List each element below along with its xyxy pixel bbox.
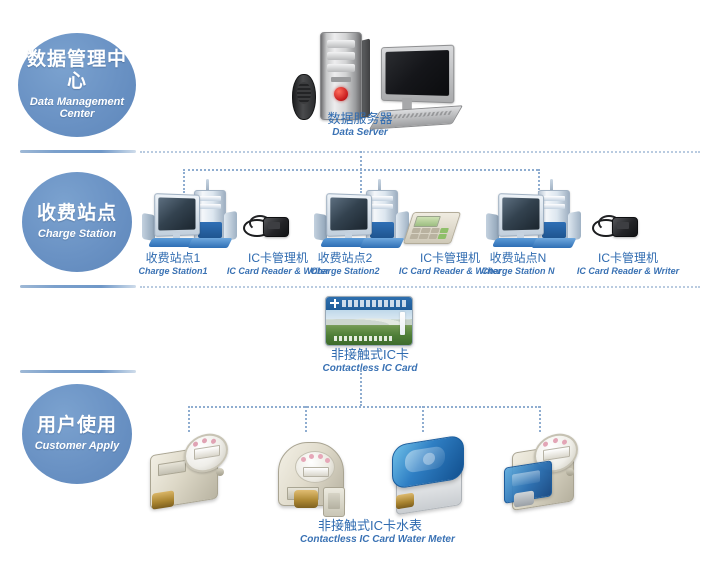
row-divider-2-dotted <box>140 286 700 288</box>
speaker-left-icon <box>142 213 155 241</box>
ic-card-reader-1 <box>243 213 289 239</box>
caption-en: Contactless IC Card Water Meter <box>300 534 440 546</box>
caption-data-server: 数据服务器 Data Server <box>300 112 420 138</box>
caption-cn: 非接触式IC卡 <box>310 348 430 363</box>
meter-card-slot <box>323 487 345 517</box>
monitor-icon <box>326 193 372 237</box>
reader-keypad <box>409 228 449 239</box>
meter-dial-face <box>295 451 335 483</box>
row-divider-2-solid <box>20 285 136 288</box>
stage-customer-apply: 用户使用 Customer Apply <box>22 384 132 484</box>
meter-pipe-fitting <box>396 493 414 510</box>
stage-label-en: Data Management Center <box>22 96 132 121</box>
ic-card-reader-n <box>592 213 638 239</box>
stage-label-cn: 用户使用 <box>37 415 117 437</box>
caption-charge-station-n: 收费站点N Charge Station N <box>462 252 574 276</box>
keyboard-icon <box>360 238 405 248</box>
card-logo-icon <box>330 299 339 308</box>
water-meter-3 <box>388 428 472 512</box>
meter-pipe-fitting <box>152 490 174 509</box>
connector-meter-bus <box>188 406 540 408</box>
stage-charge-station: 收费站点 Charge Station <box>22 172 132 272</box>
stage-data-management-center: 数据管理中心 Data Management Center <box>18 33 136 137</box>
speaker-right-icon <box>568 211 581 241</box>
reader-lcd-screen <box>413 216 441 227</box>
speaker-left-icon <box>486 213 499 241</box>
card-header-text <box>342 300 408 307</box>
caption-en: IC Card Reader & Writer <box>562 266 694 276</box>
row-divider-1-solid <box>20 150 136 153</box>
ic-card-reader-2 <box>403 212 461 244</box>
server-tower-icon <box>320 32 362 120</box>
card-header-band <box>326 297 412 310</box>
monitor-icon <box>381 45 454 104</box>
card-bottom-text <box>334 336 394 341</box>
water-meter-1 <box>146 428 230 512</box>
reader-body <box>263 217 289 237</box>
diagram-canvas: 数据管理中心 Data Management Center 收费站点 Charg… <box>0 0 720 570</box>
caption-cn: IC卡管理机 <box>562 252 694 266</box>
caption-ic-card: 非接触式IC卡 Contactless IC Card <box>310 348 430 374</box>
connector-card-down <box>360 370 362 406</box>
caption-en: Contactless IC Card <box>310 363 430 375</box>
keyboard-icon <box>532 238 577 248</box>
stage-label-en: Charge Station <box>38 228 116 241</box>
charge-station-1-pc <box>140 188 260 252</box>
meter-knob <box>216 468 224 476</box>
caption-reader-n: IC卡管理机 IC Card Reader & Writer <box>562 252 694 276</box>
caption-water-meter: 非接触式IC卡水表 Contactless IC Card Water Mete… <box>300 519 440 545</box>
reader-body <box>612 217 638 237</box>
charge-station-n-pc <box>484 188 604 252</box>
meter-knob <box>566 468 574 476</box>
stage-label-en: Customer Apply <box>35 440 120 453</box>
caption-cn: 数据服务器 <box>300 112 420 127</box>
water-meter-2 <box>272 428 356 512</box>
caption-en: Data Server <box>300 127 420 139</box>
speaker-left-icon <box>314 213 327 241</box>
stage-label-cn: 收费站点 <box>37 203 117 225</box>
meter-pipe-fitting <box>294 490 318 508</box>
water-meter-4 <box>500 428 584 512</box>
speaker-right-icon <box>224 211 237 241</box>
card-stripe <box>400 312 405 335</box>
contactless-ic-card-graphic <box>325 296 413 346</box>
caption-cn: 收费站点N <box>462 252 574 266</box>
row-divider-3-solid <box>20 370 136 373</box>
stage-label-cn: 数据管理中心 <box>22 49 132 93</box>
power-button-icon <box>334 87 348 101</box>
row-divider-1-dotted <box>140 151 700 153</box>
monitor-icon <box>498 193 544 237</box>
caption-cn: 非接触式IC卡水表 <box>300 519 440 534</box>
keyboard-icon <box>188 238 233 248</box>
monitor-icon <box>154 193 200 237</box>
caption-en: Charge Station N <box>462 266 574 276</box>
